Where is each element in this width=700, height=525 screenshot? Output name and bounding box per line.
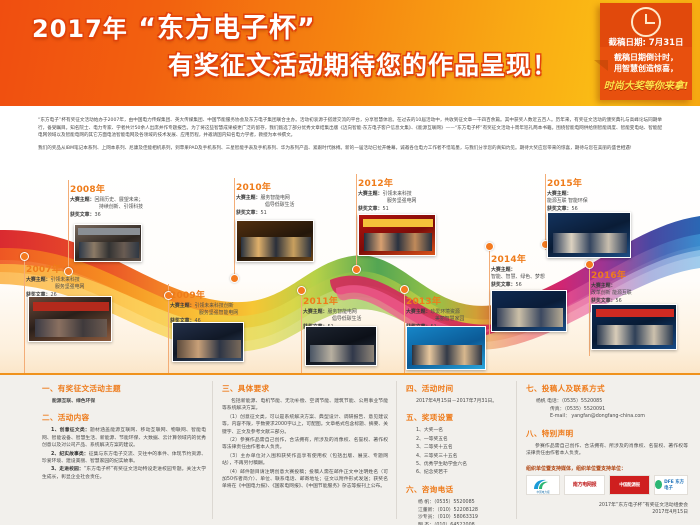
entry-year-2008: 2008年: [70, 182, 143, 195]
entry-count-value: 56: [515, 282, 521, 288]
signature-date: 2017年4月15日: [526, 509, 688, 516]
entry-theme-text2: 改革创新 能源互联: [591, 290, 632, 296]
col4-heading-1: 七、投稿人及联系方式: [526, 383, 688, 394]
logo-china-electric-power-news: 中国电力报: [526, 475, 560, 495]
entry-year-2011: 2011年: [303, 294, 361, 307]
badge-clock-area: 截稿日期: 7月31日: [600, 3, 692, 47]
col4-note: 参赛作品需自己创作、合法拥有、所涉及的肖像权、名誉权、著作权等法律责任由作者本人…: [526, 443, 688, 458]
stem-2011: [301, 290, 302, 373]
timeline-entry-2012[interactable]: 2012年 大赛主题：引领未来科技 服务坚强电网 获奖文章：51: [358, 176, 416, 213]
entry-theme-text2: 服务坚强智能电网: [199, 310, 238, 316]
timeline-node-2014[interactable]: [485, 242, 494, 251]
entry-theme-2014-line1: 大赛主题：: [491, 267, 545, 274]
timeline-entry-2007[interactable]: 2007年 大赛主题：引领未来科技 服务坚强电网 获奖文章：26: [26, 262, 84, 299]
award-item: 1、大奖一名: [416, 427, 510, 434]
timeline-photo-2009[interactable]: [172, 322, 244, 362]
entry-year-2016: 2016年: [591, 268, 632, 281]
logo-caption: 中国能源报: [619, 482, 639, 488]
contact-name: 杨 帆：: [418, 500, 434, 505]
entry-theme-2011-line2: 倡导低碳生活: [303, 316, 361, 323]
info-column-1: 一、有奖征文活动主题 能源互联、绿色环保 二、活动内容 1、创意征文类：题材涵盖…: [42, 383, 206, 482]
entry-theme-2011-line1: 大赛主题：服务智能电网: [303, 309, 361, 316]
column-separator-1: [212, 381, 213, 519]
entry-count-value: 36: [94, 212, 100, 218]
logo-china-energy-news: 中国能源报: [609, 475, 650, 495]
col3-time: 2017年4月15日－2017年7月31日。: [416, 398, 510, 405]
theme-label: 大赛主题：: [170, 303, 194, 309]
theme-label: 大赛主题：: [236, 195, 260, 201]
header-title-line1: 2017年 “东方电子杯”: [32, 12, 572, 46]
countdown-badge: 截稿日期: 7月31日 截稿日期倒计时， 用智慧创造惊喜， 时尚大奖等你来拿!: [600, 3, 692, 100]
timeline-node-2012[interactable]: [352, 265, 361, 274]
intro-text-block: “东方电子”杯有奖征文活动始办于2007年，由中国电力传媒集团、英大传媒集团、中…: [0, 110, 700, 170]
intro-paragraph-1: “东方电子”杯有奖征文活动始办于2007年，由中国电力传媒集团、英大传媒集团、中…: [38, 117, 662, 140]
contact-row: 杨 帆：（0535）5520085: [418, 499, 510, 507]
stem-2010: [234, 178, 235, 278]
contact-name: 江董新：: [418, 508, 437, 513]
logo-caption: 中国电力报: [537, 490, 550, 494]
timeline-entry-2010[interactable]: 2010年 大赛主题：服务智能电网 倡导低碳生活 获奖文章：51: [236, 180, 294, 217]
theme-label: 大赛主题：: [358, 191, 382, 197]
entry-theme-2007-line1: 大赛主题：引领未来科技: [26, 277, 84, 284]
award-item: 3、二等奖十五名: [416, 444, 510, 451]
timeline-entry-2008[interactable]: 2008年 大赛主题：回顾历史、展望未来； 持续创新、引领科技 获奖文章：36: [70, 182, 143, 219]
timeline-photo-2014[interactable]: [491, 290, 567, 332]
entry-theme-2013-line1: 大赛主题：珍爱环境资源: [406, 309, 464, 316]
contact-name: 沙专员：: [418, 515, 437, 520]
entry-theme-text2: 持续创新、引领科技: [99, 204, 143, 210]
stem-2014: [489, 246, 490, 338]
badge-line2b: 用智慧创造惊喜，: [600, 63, 692, 74]
entry-count-2012: 获奖文章：51: [358, 206, 416, 213]
col2-para-3: （3）主办单位对入围和获奖作品享有使用权（包括出版、展览、专题网站），不再另付稿…: [222, 453, 388, 468]
entry-year-2010: 2010年: [236, 180, 294, 193]
entry-theme-2012-line2: 服务坚强电网: [358, 198, 416, 205]
entry-year-2007: 2007年: [26, 262, 84, 275]
entry-theme-2015-line1: 大赛主题：: [547, 191, 588, 198]
entry-theme-text2: 倡导低碳生活: [265, 202, 294, 208]
theme-label: 大赛主题：: [303, 309, 327, 315]
count-label: 获奖文章：: [70, 212, 94, 218]
timeline-photo-2013[interactable]: [406, 326, 486, 370]
contact-tel: （010）58063319: [437, 515, 478, 520]
timeline-node-2007[interactable]: [20, 252, 29, 261]
badge-deadline-text: 截稿日期: 7月31日: [600, 36, 692, 48]
timeline-entry-2009[interactable]: 2009年 大赛主题：引领未来科技创新 服务坚强智能电网 获奖文章：46: [170, 288, 238, 325]
info-column-2: 三、具体要求 包括新能源、电机节能、无功补偿、空调节能、建筑节能、公用事业节能等…: [222, 383, 388, 492]
intro-paragraph-2: 我们的奖品从IBM笔记本系列、上网本系列、尼康及佳能相机系列，到苹果PAD及手机…: [38, 145, 662, 153]
entry-theme-text: 引领未来科技: [382, 191, 411, 197]
theme-label: 大赛主题：: [70, 197, 94, 203]
col3-heading-3: 六、咨询电话: [406, 484, 510, 495]
col4-contact-line-1: 杨帆 电话：（0535）5520085: [536, 398, 688, 406]
contact-tel: （0535）5520085: [434, 500, 475, 505]
logo-southern-power-grid: 南方电网报: [564, 475, 605, 495]
entry-theme-2008-line2: 持续创新、引领科技: [70, 204, 143, 211]
entry-count-value: 51: [260, 210, 266, 216]
col2-para-0: 包括新能源、电机节能、无功补偿、空调节能、建筑节能、公用事业节能等系统解决方案。: [222, 398, 388, 413]
col2-para-2: （2）参赛作品需自己创作，合法拥有，所涉及的肖像权、名誉权、著作权等法律责任由作…: [222, 437, 388, 452]
timeline-photo-2010[interactable]: [236, 220, 314, 262]
theme-label: 大赛主题：: [547, 191, 571, 197]
count-label: 获奖文章：: [236, 210, 260, 216]
entry-theme-text2: 智能、智慧、绿色、梦想: [491, 274, 545, 280]
entry-year-2009: 2009年: [170, 288, 238, 301]
stem-2015: [545, 174, 546, 250]
entry-theme-2008-line1: 大赛主题：回顾历史、展望未来；: [70, 197, 143, 204]
info-column-4: 七、投稿人及联系方式 杨帆 电话：（0535）5520085 传真：（0535）…: [526, 383, 688, 516]
entry-theme-2010-line1: 大赛主题：服务智能电网: [236, 195, 294, 202]
col2-heading-1: 三、具体要求: [222, 383, 388, 394]
entry-theme-text: 回顾历史、展望未来；: [94, 197, 143, 203]
col1-heading-2: 二、活动内容: [42, 412, 206, 423]
count-label: 获奖文章：: [491, 282, 515, 288]
badge-prize-text: 时尚大奖等你来拿!: [600, 77, 692, 92]
entry-theme-text2: 美丽智慧家园: [435, 316, 464, 322]
stem-2008: [68, 180, 69, 272]
logo-dongfang-electronics: DFE 东方电子: [654, 475, 688, 495]
award-item: 6、纪念奖若干: [416, 469, 510, 476]
col1-item-1: 1、创意征文类：题材涵盖能源互联网、移动互联网、物联网、智能电网、智能设备、智慧…: [42, 427, 206, 449]
col1-item3-title: 3、走进校园：: [51, 467, 84, 472]
stem-2016: [589, 264, 590, 356]
timeline-entry-2015[interactable]: 2015年 大赛主题： 能源互联 智能环保 获奖文章：56: [547, 176, 588, 213]
stem-2012: [356, 174, 357, 270]
entry-count-2014: 获奖文章：56: [491, 282, 545, 289]
timeline-node-2013[interactable]: [400, 285, 409, 294]
col1-heading-1: 一、有奖征文活动主题: [42, 383, 206, 394]
entry-theme-2013-line2: 美丽智慧家园: [406, 316, 464, 323]
signature-block: 2017年“东方电子杯”有奖征文活动组委会 2017年4月15日: [526, 502, 688, 516]
timeline-photo-2008[interactable]: [74, 224, 142, 262]
column-separator-3: [516, 381, 517, 519]
col1-item1-title: 1、创意征文类：: [51, 428, 90, 433]
badge-line2a: 截稿日期倒计时，: [600, 52, 692, 63]
logo-caption: DFE 东方电子: [664, 479, 687, 491]
poster-root: 2017年 “东方电子杯” 有奖征文活动期待您的作品呈现！ 截稿日期: 7月31…: [0, 0, 700, 525]
theme-label: 大赛主题：: [26, 277, 50, 283]
entry-theme-text2: 倡导低碳生活: [332, 316, 361, 322]
col1-theme: 能源互联、绿色环保: [52, 398, 206, 405]
entry-count-value: 51: [382, 206, 388, 212]
timeline-photo-2016[interactable]: [591, 304, 677, 350]
entry-count-2010: 获奖文章：51: [236, 210, 294, 217]
entry-year-2015: 2015年: [547, 176, 588, 189]
entry-theme-text: 引领未来科技创新: [194, 303, 233, 309]
timeline-photo-2015[interactable]: [547, 212, 631, 258]
sponsor-logos: 中国电力报 南方电网报 中国能源报 DFE 东方电子: [526, 475, 688, 495]
theme-label: 大赛主题：: [406, 309, 430, 315]
entry-theme-2012-line1: 大赛主题：引领未来科技: [358, 191, 416, 198]
entry-year-2014: 2014年: [491, 252, 545, 265]
clock-icon: [631, 7, 661, 37]
count-label: 获奖文章：: [358, 206, 382, 212]
award-item: 4、三等奖三十五名: [416, 453, 510, 460]
award-item: 5、优秀学生助学金六名: [416, 461, 510, 468]
stem-2013: [404, 290, 405, 373]
theme-label: 大赛主题：: [491, 267, 515, 273]
theme-label: 大赛主题：: [591, 283, 615, 289]
col4-contact-line-2: 传真：（0535）5520091: [550, 406, 688, 414]
timeline-node-2010[interactable]: [230, 274, 239, 283]
column-separator-2: [396, 381, 397, 519]
header-title-year: 2017年: [32, 15, 128, 43]
award-item: 2、一等奖五名: [416, 436, 510, 443]
col4-contact-line-3[interactable]: E-mail： yangfan@dongfang-china.com: [550, 413, 688, 421]
entry-theme-2014-line2: 智能、智慧、绿色、梦想: [491, 274, 545, 281]
contact-tel: （010）52208128: [437, 508, 478, 513]
col3-heading-2: 五、奖项设置: [406, 412, 510, 423]
entry-theme-2009-line1: 大赛主题：引领未来科技创新: [170, 303, 238, 310]
entry-theme-2016-line2: 改革创新 能源互联: [591, 290, 632, 297]
col2-para-4: （4）邮件题目请注明创意大赛投稿；投稿人需在邮件正文中注明姓名（可加50作者简介…: [222, 469, 388, 491]
entry-theme-2009-line2: 服务坚强智能电网: [170, 310, 238, 317]
entry-theme-text2: 服务坚强电网: [387, 198, 416, 204]
entry-theme-text: 服务智能电网: [327, 309, 356, 315]
entry-theme-text: 珍爱环境资源: [430, 309, 459, 315]
timeline-photo-2012[interactable]: [358, 214, 436, 256]
timeline-photo-2011[interactable]: [305, 326, 377, 366]
entry-theme-text2: 能源互联 智能环保: [547, 198, 588, 204]
header-title-line2: 有奖征文活动期待您的作品呈现！: [32, 50, 572, 82]
entry-theme-2015-line2: 能源互联 智能环保: [547, 198, 588, 205]
entry-theme-text: 服务智能电网: [260, 195, 289, 201]
col4-heading-2: 八、特别声明: [526, 428, 688, 439]
signature-org: 2017年“东方电子杯”有奖征文活动组委会: [526, 502, 688, 509]
poster-header: 2017年 “东方电子杯” 有奖征文活动期待您的作品呈现！ 截稿日期: 7月31…: [0, 0, 700, 110]
timeline-section: 2007年 大赛主题：引领未来科技 服务坚强电网 获奖文章：26 2008年 大…: [0, 168, 700, 373]
logo-caption: 南方电网报: [573, 481, 597, 488]
sponsor-label: 组织单位暨支持媒体，组织单位暨支持单位：: [526, 465, 688, 472]
entry-theme-2010-line2: 倡导低碳生活: [236, 202, 294, 209]
bottom-info-panel: 一、有奖征文活动主题 能源互联、绿色环保 二、活动内容 1、创意征文类：题材涵盖…: [0, 373, 700, 525]
col2-para-1: （1）创意征文类，可以是系统解决方案、典型设计、调研报告、意见建议等，内容不限，…: [222, 414, 388, 436]
entry-year-2012: 2012年: [358, 176, 416, 189]
entry-count-2008: 获奖文章：36: [70, 212, 143, 219]
col1-item-2: 2、纪实故事类：征集与东方电子交流、交往中的事件、体现节约资源、珍爱环境、建设美…: [42, 451, 206, 466]
entry-theme-text2: 服务坚强电网: [55, 284, 84, 290]
stem-2007: [24, 258, 25, 373]
col3-heading-1: 四、活动时间: [406, 383, 510, 394]
entry-year-2013: 2013年: [406, 294, 464, 307]
col1-item2-title: 2、纪实故事类：: [51, 452, 89, 457]
entry-theme-text: 引领未来科技: [50, 277, 79, 283]
col1-item-3: 3、走进校园：“东方电子杯”有奖征文活动特设走进校园专题。关注大学生成长，彰显企…: [42, 466, 206, 481]
timeline-entry-2016[interactable]: 2016年 大赛主题： 改革创新 能源互联 获奖文章：56: [591, 268, 632, 305]
timeline-entry-2014[interactable]: 2014年 大赛主题： 智能、智慧、绿色、梦想 获奖文章：56: [491, 252, 545, 289]
contact-row: 沙专员：（010）58063319: [418, 514, 510, 522]
badge-fold-shadow: [594, 60, 608, 71]
entry-theme-2007-line2: 服务坚强电网: [26, 284, 84, 291]
header-title-quote: “东方电子杯”: [138, 13, 316, 44]
entry-theme-2016-line1: 大赛主题：: [591, 283, 632, 290]
badge-line2: 截稿日期倒计时， 用智慧创造惊喜，: [600, 52, 692, 74]
header-title-block: 2017年 “东方电子杯” 有奖征文活动期待您的作品呈现！: [32, 12, 572, 82]
timeline-photo-2007[interactable]: [28, 296, 112, 342]
info-column-3: 四、活动时间 2017年4月15日－2017年7月31日。 五、奖项设置 1、大…: [406, 383, 510, 525]
contact-row: 江董新：（010）52208128: [418, 507, 510, 515]
